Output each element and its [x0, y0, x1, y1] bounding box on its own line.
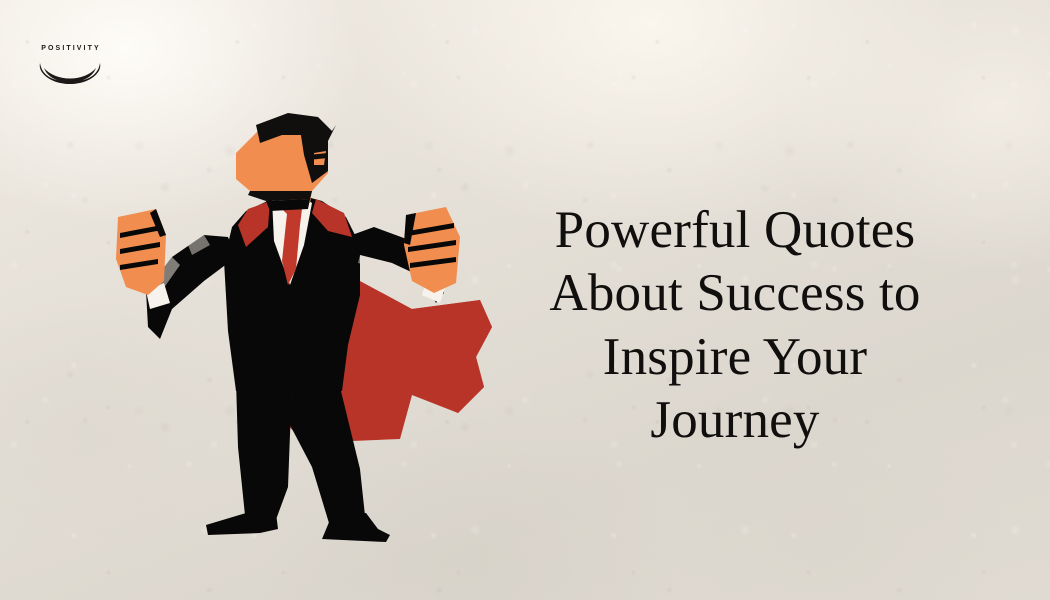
head — [236, 113, 336, 211]
page-title: Powerful Quotes About Success to Inspire… — [520, 199, 950, 453]
poster-canvas: POSITIVITY Powerful Quotes About Success… — [0, 0, 1050, 600]
left-arm — [116, 209, 236, 339]
smile-icon — [30, 59, 110, 90]
brand-logo[interactable]: POSITIVITY — [30, 45, 110, 91]
superhero-businessman-illustration — [60, 95, 520, 555]
logo-wordmark: POSITIVITY — [30, 45, 110, 52]
